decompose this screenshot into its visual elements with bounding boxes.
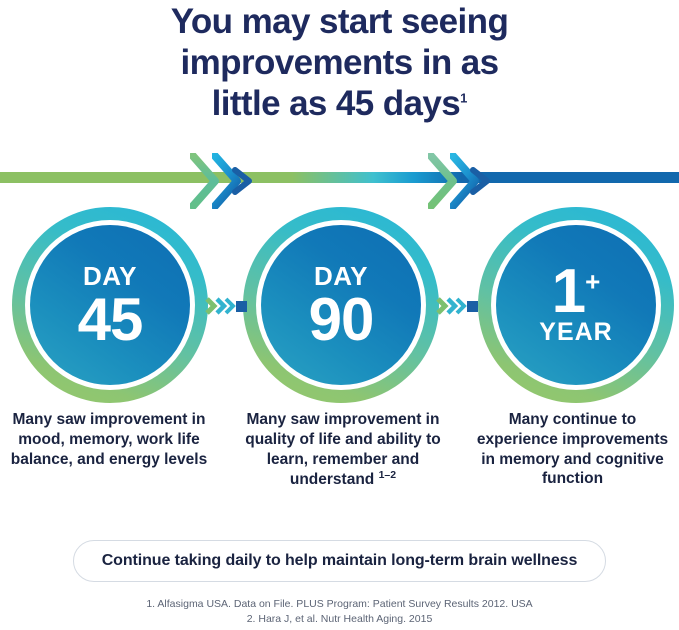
connector-45-to-90 xyxy=(205,295,249,317)
caption-text: Many saw improvement in quality of life … xyxy=(245,411,440,489)
chevron-small-navy-icon xyxy=(470,167,500,195)
milestone-unit-label: DAY xyxy=(314,263,368,289)
caption-day-90: Many saw improvement in quality of life … xyxy=(228,410,458,490)
circle-inner: DAY 90 xyxy=(261,225,421,385)
milestone-circles: DAY 45 DAY 90 1+ YEAR xyxy=(0,207,679,407)
headline-line-1: You may start seeing xyxy=(80,2,599,43)
milestone-circle-day-45: DAY 45 xyxy=(12,207,208,403)
page-title: You may start seeing improvements in as … xyxy=(0,2,679,125)
milestone-unit-label: DAY xyxy=(83,263,137,289)
milestone-value-label: 90 xyxy=(309,291,374,348)
caption-text: Many saw improvement in mood, memory, wo… xyxy=(11,411,207,468)
footnote-2: 2. Hara J, et al. Nutr Health Aging. 201… xyxy=(0,612,679,627)
caption-superscript: 1–2 xyxy=(379,469,397,481)
chevron-group-after-day-90 xyxy=(428,150,520,212)
milestone-captions: Many saw improvement in mood, memory, wo… xyxy=(0,410,679,520)
headline-superscript: 1 xyxy=(460,90,467,105)
milestone-value-label-wrap: 1+ xyxy=(552,263,601,322)
timeline-band xyxy=(0,150,679,212)
footnotes: 1. Alfasigma USA. Data on File. PLUS Pro… xyxy=(0,597,679,627)
infographic-page: You may start seeing improvements in as … xyxy=(0,0,679,630)
milestone-value-label: 1 xyxy=(552,257,585,326)
maintenance-message-text: Continue taking daily to help maintain l… xyxy=(102,552,578,570)
caption-day-45: Many saw improvement in mood, memory, wo… xyxy=(8,410,210,469)
caption-one-plus-year: Many continue to experience improvements… xyxy=(470,410,675,489)
milestone-unit-label: YEAR xyxy=(539,320,612,345)
caption-text: Many continue to experience improvements… xyxy=(477,411,668,487)
headline-line-3-wrap: little as 45 days1 xyxy=(80,84,599,125)
milestone-plus-sign: + xyxy=(585,266,600,296)
milestone-value-label: 45 xyxy=(78,291,143,348)
milestone-circle-day-90: DAY 90 xyxy=(243,207,439,403)
maintenance-message-pill: Continue taking daily to help maintain l… xyxy=(73,540,606,582)
timeline-bar xyxy=(0,172,679,183)
headline-line-3: little as 45 days xyxy=(212,84,461,123)
chevron-group-after-day-45 xyxy=(190,150,282,212)
connector-90-to-year xyxy=(436,295,480,317)
circle-inner: 1+ YEAR xyxy=(496,225,656,385)
milestone-circle-one-plus-year: 1+ YEAR xyxy=(478,207,674,403)
headline-line-2: improvements in as xyxy=(80,43,599,84)
chevron-small-navy-icon xyxy=(232,167,262,195)
circle-inner: DAY 45 xyxy=(30,225,190,385)
footnote-1: 1. Alfasigma USA. Data on File. PLUS Pro… xyxy=(0,597,679,612)
